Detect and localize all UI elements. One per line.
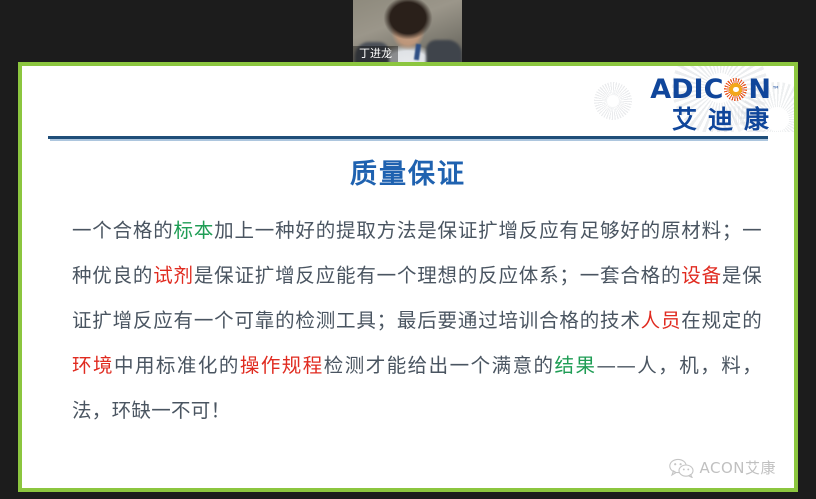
screen-recording-frame: 丁进龙 ADIC N ™ 艾迪康 — [0, 0, 816, 499]
wechat-watermark-text: ACON艾康 — [700, 457, 777, 478]
highlight-equipment: 设备 — [681, 264, 722, 287]
highlight-sample: 标本 — [174, 219, 215, 242]
participant-video-tile[interactable]: 丁进龙 — [353, 0, 462, 62]
presentation-slide: ADIC N ™ 艾迪康 质量保证 一个合格的标本加上一种好的提取方法是保证扩增… — [22, 66, 794, 488]
trademark-symbol: ™ — [772, 86, 780, 94]
slide-body-text: 一个合格的标本加上一种好的提取方法是保证扩增反应有足够好的原材料；一种优良的试剂… — [72, 208, 762, 433]
body-segment: 检测才能给出一个满意的 — [324, 354, 555, 377]
body-segment: 中用标准化的 — [114, 354, 240, 377]
logo-text-part1: ADIC — [650, 76, 723, 103]
wechat-icon — [669, 458, 695, 478]
highlight-personnel: 人员 — [641, 309, 682, 332]
highlight-reagent: 试剂 — [153, 264, 194, 287]
participant-name-label: 丁进龙 — [353, 46, 398, 62]
logo-text-part2: N — [748, 76, 771, 103]
adicon-logo: ADIC N ™ 艾迪康 — [650, 76, 780, 132]
adicon-logo-chinese: 艾迪康 — [650, 107, 780, 132]
sunburst-o-icon — [724, 78, 747, 101]
sunburst-watermark-icon — [594, 82, 632, 120]
body-segment: 是保证扩增反应能有一个理想的反应体系；一套合格的 — [194, 264, 681, 287]
body-segment: 在规定的 — [681, 309, 762, 332]
body-segment: 一个合格的 — [72, 219, 174, 242]
slide-green-frame: ADIC N ™ 艾迪康 质量保证 一个合格的标本加上一种好的提取方法是保证扩增… — [18, 62, 798, 492]
video-thumbnail-strip: 丁进龙 — [0, 0, 816, 62]
highlight-procedure: 操作规程 — [240, 354, 324, 377]
highlight-result: 结果 — [555, 354, 597, 377]
shoulder-right-shape — [426, 40, 462, 62]
header-divider-rule-shadow — [50, 139, 768, 141]
adicon-logo-english: ADIC N ™ — [650, 76, 780, 103]
highlight-environment: 环境 — [72, 354, 114, 377]
slide-header-band: ADIC N ™ 艾迪康 — [22, 66, 794, 132]
wechat-watermark: ACON艾康 — [669, 457, 777, 478]
slide-title: 质量保证 — [22, 152, 794, 191]
